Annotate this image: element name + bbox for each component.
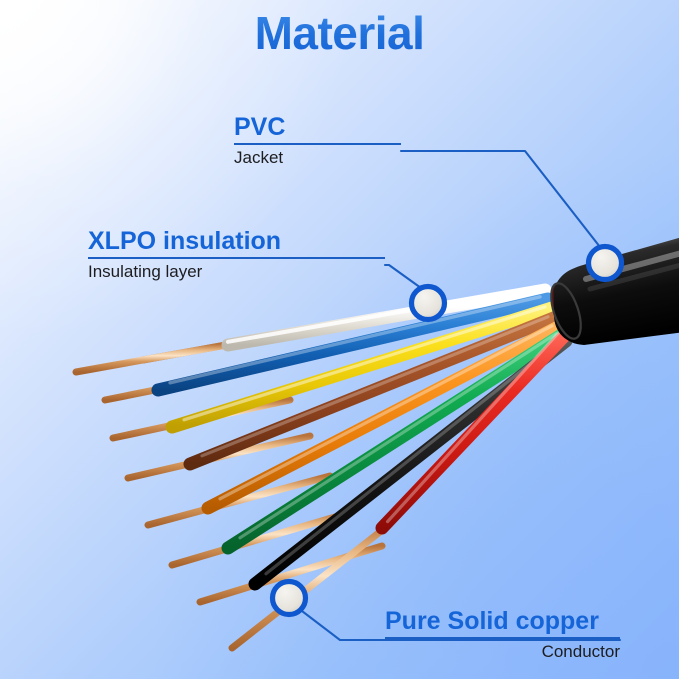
cable-illustration bbox=[0, 0, 679, 679]
cable-assembly bbox=[76, 232, 679, 648]
leader-line-pvc bbox=[401, 151, 600, 247]
callout-copper-title: Pure Solid copper bbox=[385, 608, 620, 634]
callout-xlpo-rule bbox=[88, 257, 385, 259]
callout-copper: Pure Solid copper Conductor bbox=[385, 608, 620, 662]
callout-marker-pvc[interactable] bbox=[589, 247, 622, 280]
callout-pvc-title: PVC bbox=[234, 114, 401, 140]
callout-copper-subtitle: Conductor bbox=[385, 643, 620, 662]
callout-xlpo-subtitle: Insulating layer bbox=[88, 263, 385, 282]
callout-xlpo: XLPO insulation Insulating layer bbox=[88, 228, 385, 282]
callout-pvc: PVC Jacket bbox=[234, 114, 401, 168]
callout-copper-rule bbox=[385, 637, 620, 639]
callout-marker-copper[interactable] bbox=[273, 582, 306, 615]
callout-xlpo-title: XLPO insulation bbox=[88, 228, 385, 254]
callout-marker-xlpo[interactable] bbox=[412, 287, 445, 320]
wire-orange bbox=[148, 326, 560, 525]
material-diagram-canvas: Material bbox=[0, 0, 679, 679]
callout-pvc-rule bbox=[234, 143, 401, 145]
leader-line-xlpo bbox=[385, 265, 421, 288]
callout-pvc-subtitle: Jacket bbox=[234, 149, 401, 168]
